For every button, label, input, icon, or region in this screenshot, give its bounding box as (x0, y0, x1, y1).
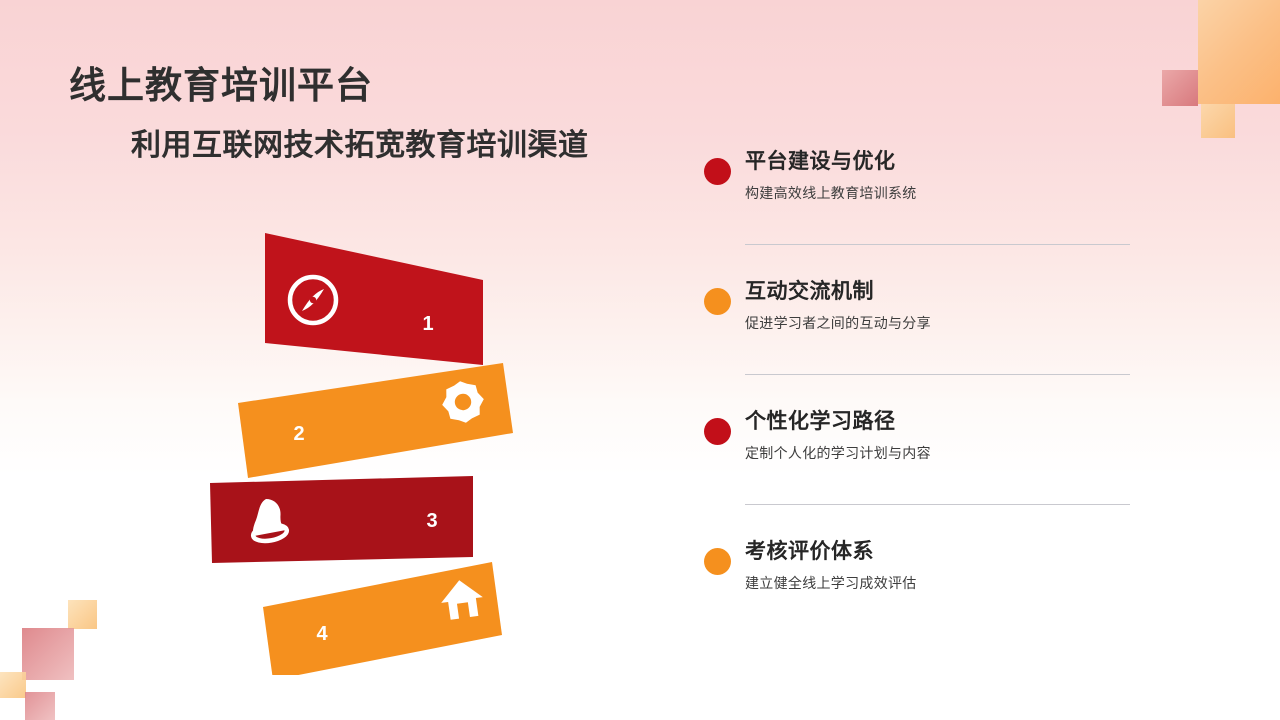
list-item-heading: 个性化学习路径 (745, 408, 1145, 435)
square-bottom-left-orange-left (0, 672, 26, 698)
square-bottom-left-red-small (25, 692, 55, 720)
ribbon-step-3[interactable]: 3 (210, 476, 473, 563)
ribbon-number-2: 2 (293, 423, 304, 445)
ribbon-number-3: 3 (426, 510, 437, 532)
bullet-dot-icon (704, 548, 731, 575)
list-item-description: 促进学习者之间的互动与分享 (745, 314, 1145, 334)
list-item-heading: 考核评价体系 (745, 538, 1145, 565)
square-top-right-orange (1201, 104, 1235, 138)
square-bottom-left-orange-top (68, 600, 97, 629)
ribbon-step-1[interactable]: 1 (265, 233, 483, 365)
list-item[interactable]: 平台建设与优化 构建高效线上教育培训系统 (700, 140, 1150, 270)
list-item-description: 构建高效线上教育培训系统 (745, 184, 1145, 204)
list-divider (745, 374, 1130, 375)
list-divider (745, 244, 1130, 245)
list-item-description: 定制个人化的学习计划与内容 (745, 444, 1145, 464)
list-item-description: 建立健全线上学习成效评估 (745, 574, 1145, 594)
page-title: 线上教育培训平台 (69, 55, 373, 109)
list-item-heading: 平台建设与优化 (745, 148, 1145, 175)
square-bottom-left-red-large (22, 628, 74, 680)
list-item[interactable]: 互动交流机制 促进学习者之间的互动与分享 (700, 270, 1150, 400)
ribbon-number-4: 4 (316, 623, 328, 645)
ribbon-diagram: 1 2 3 (200, 225, 540, 675)
ribbon-number-1: 1 (422, 313, 433, 335)
page-subtitle: 利用互联网技术拓宽教育培训渠道 (131, 120, 589, 164)
square-top-right-red (1162, 70, 1198, 106)
list-item[interactable]: 个性化学习路径 定制个人化的学习计划与内容 (700, 400, 1150, 530)
list-item-heading: 互动交流机制 (745, 278, 1145, 305)
bullet-dot-icon (704, 418, 731, 445)
bullet-dot-icon (704, 158, 731, 185)
ribbon-step-2[interactable]: 2 (238, 363, 513, 478)
ribbon-step-4[interactable]: 4 (263, 562, 502, 675)
square-top-right-large (1198, 0, 1280, 104)
presentation-slide: 线上教育培训平台 利用互联网技术拓宽教育培训渠道 1 (0, 0, 1280, 720)
list-item[interactable]: 考核评价体系 建立健全线上学习成效评估 (700, 530, 1150, 660)
bullet-dot-icon (704, 288, 731, 315)
feature-list: 平台建设与优化 构建高效线上教育培训系统 互动交流机制 促进学习者之间的互动与分… (700, 140, 1150, 660)
list-divider (745, 504, 1130, 505)
